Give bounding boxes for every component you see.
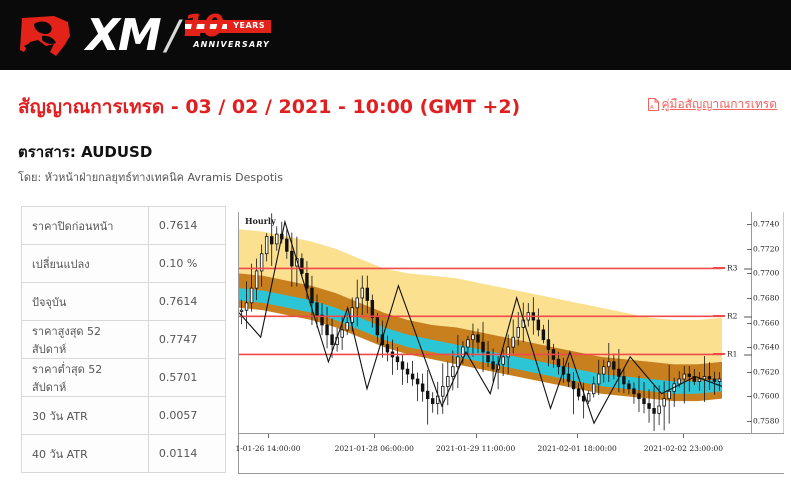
anniversary-badge: 10 YEARS ANNIVERSARY xyxy=(183,12,275,60)
y-tick-mark xyxy=(747,273,752,274)
table-row: 30 วัน ATR 0.0057 xyxy=(22,397,226,435)
y-tick-label: 0.7600 xyxy=(753,392,779,401)
page-title: สัญญาณการเทรด - 03 / 02 / 2021 - 10:00 (… xyxy=(18,92,520,122)
pdf-link-label: คู่มือสัญญาณการเทรด xyxy=(662,95,778,114)
stat-label: ราคาต่ำสุด 52 สัปดาห์ xyxy=(22,359,149,397)
y-tick-mark xyxy=(747,323,752,324)
stat-label: ราคาสูงสุด 52 สัปดาห์ xyxy=(22,321,149,359)
chart-canvas xyxy=(239,212,722,433)
y-tick-mark xyxy=(747,396,752,397)
y-tick-label: 0.7680 xyxy=(753,293,779,302)
chart-bottom-border xyxy=(239,473,784,474)
bull-logo-icon xyxy=(20,12,80,60)
table-row: ปัจจุบัน 0.7614 xyxy=(22,283,226,321)
y-tick-label: 0.7740 xyxy=(753,220,779,229)
svg-text:A: A xyxy=(650,105,654,111)
stat-value: 0.0057 xyxy=(148,397,225,435)
xm-wordmark: XM xyxy=(86,14,160,58)
y-tick-mark xyxy=(747,224,752,225)
xm-logo[interactable]: XM / 10 YEARS ANNIVERSARY xyxy=(20,10,275,62)
stat-label: ปัจจุบัน xyxy=(22,283,149,321)
y-tick-label: 0.7660 xyxy=(753,318,779,327)
y-tick-label: 0.7700 xyxy=(753,269,779,278)
y-tick-mark xyxy=(747,347,752,348)
y-tick-label: 0.7620 xyxy=(753,367,779,376)
x-tick-label: 2021-01-28 06:00:00 xyxy=(335,444,414,453)
y-tick-mark xyxy=(747,372,752,373)
table-row: เปลี่ยนแปลง 0.10 % xyxy=(22,245,226,283)
chart-plot-area[interactable]: Hourly xyxy=(239,212,722,433)
resistance-label-r2: R2 xyxy=(727,312,737,321)
y-tick-mark xyxy=(747,298,752,299)
x-tick-mark xyxy=(476,434,477,438)
y-tick-label: 0.7640 xyxy=(753,343,779,352)
resistance-line-stub xyxy=(713,315,725,317)
x-tick-label: 2021-02-02 23:00:00 xyxy=(644,444,723,453)
y-tick-label: 0.7580 xyxy=(753,416,779,425)
author-byline: โดย: หัวหน้าฝ่ายกลยุทธ์ทางเทคนิค Avramis… xyxy=(18,168,283,186)
instrument-title: ตราสาร: AUDUSD xyxy=(18,140,152,164)
x-tick-mark xyxy=(268,434,269,438)
anniversary-number: 10 xyxy=(183,12,223,42)
x-tick-label: 2021-01-29 11:00:00 xyxy=(436,444,515,453)
stat-value: 0.7614 xyxy=(148,283,225,321)
x-tick-label: 1-01-26 14:00:00 xyxy=(235,444,300,453)
price-chart[interactable]: Hourly 0.77400.77200.77000.76800.76600.7… xyxy=(238,212,784,474)
resistance-label-r1: R1 xyxy=(727,350,737,359)
table-row: ราคาสูงสุด 52 สัปดาห์ 0.7747 xyxy=(22,321,226,359)
stat-label: เปลี่ยนแปลง xyxy=(22,245,149,283)
stat-value: 0.0114 xyxy=(148,435,225,473)
x-tick-mark xyxy=(577,434,578,438)
market-stats-table: ราคาปิดก่อนหน้า 0.7614 เปลี่ยนแปลง 0.10 … xyxy=(21,206,226,473)
chart-y-axis: 0.77400.77200.77000.76800.76600.76400.76… xyxy=(723,212,784,433)
resistance-line-stub xyxy=(713,267,725,269)
logo-divider-slash: / xyxy=(166,13,179,59)
chart-timeframe-label: Hourly xyxy=(245,216,276,226)
table-row: ราคาต่ำสุด 52 สัปดาห์ 0.5701 xyxy=(22,359,226,397)
anniversary-years-label: YEARS xyxy=(233,21,265,30)
table-row: ราคาปิดก่อนหน้า 0.7614 xyxy=(22,207,226,245)
x-tick-mark xyxy=(683,434,684,438)
stat-value: 0.10 % xyxy=(148,245,225,283)
stat-value: 0.7747 xyxy=(148,321,225,359)
y-tick-label: 0.7720 xyxy=(753,244,779,253)
table-row: 40 วัน ATR 0.0114 xyxy=(22,435,226,473)
pdf-file-icon: A xyxy=(648,98,659,111)
resistance-line-stub xyxy=(713,353,725,355)
chart-x-axis: 1-01-26 14:00:002021-01-28 06:00:002021-… xyxy=(239,433,784,464)
x-tick-mark xyxy=(374,434,375,438)
stat-label: 30 วัน ATR xyxy=(22,397,149,435)
x-tick-label: 2021-02-01 18:00:00 xyxy=(537,444,616,453)
y-axis-outer-line xyxy=(783,212,784,433)
stat-value: 0.5701 xyxy=(148,359,225,397)
trading-signals-guide-link[interactable]: A คู่มือสัญญาณการเทรด xyxy=(648,95,778,114)
stat-value: 0.7614 xyxy=(148,207,225,245)
logo-band: XM / 10 YEARS ANNIVERSARY xyxy=(0,0,791,70)
y-tick-mark xyxy=(747,421,752,422)
stat-label: ราคาปิดก่อนหน้า xyxy=(22,207,149,245)
stat-label: 40 วัน ATR xyxy=(22,435,149,473)
y-tick-mark xyxy=(747,249,752,250)
resistance-label-r3: R3 xyxy=(727,264,737,273)
market-stats-body: ราคาปิดก่อนหน้า 0.7614 เปลี่ยนแปลง 0.10 … xyxy=(22,207,226,473)
